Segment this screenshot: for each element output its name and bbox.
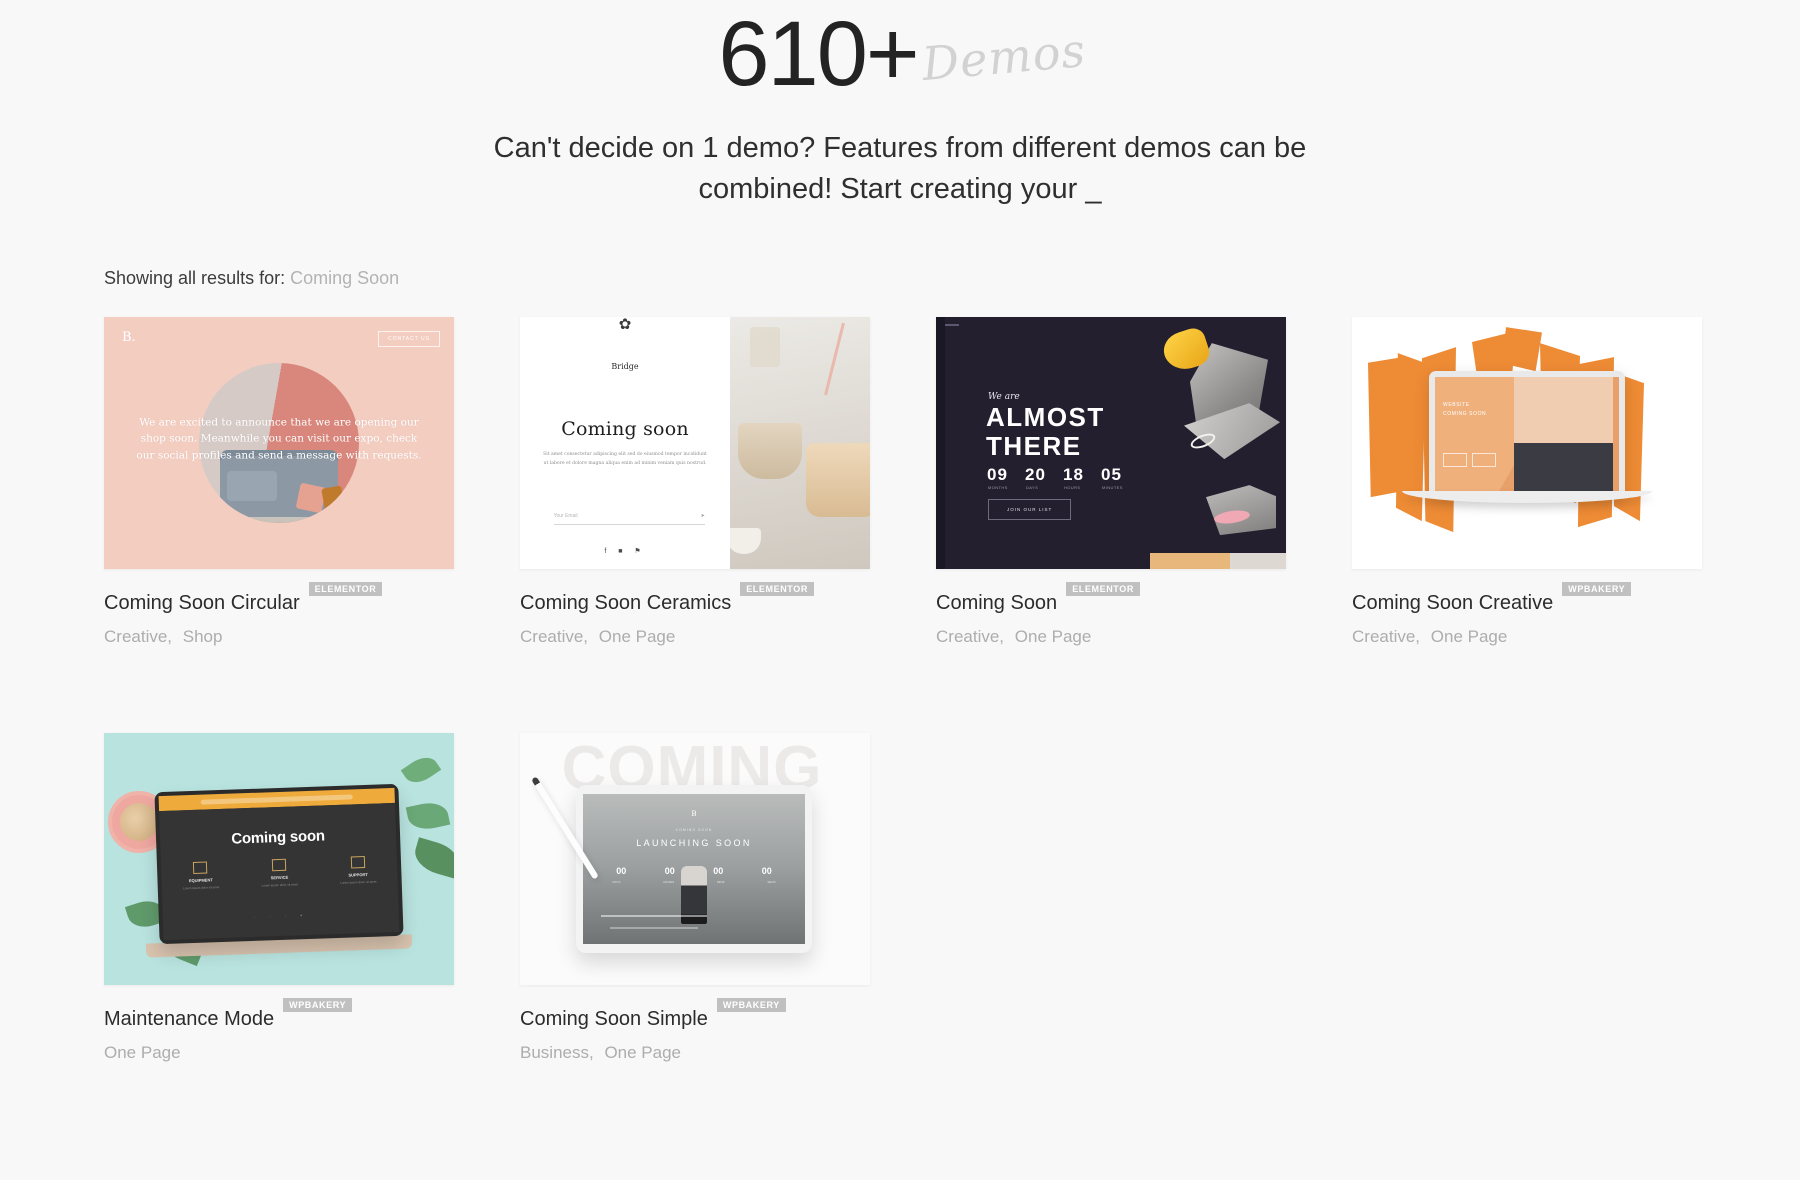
carousel-dots: · · · ▪ xyxy=(163,910,399,924)
demo-thumbnail-maintenance-mode[interactable]: Coming soon EQUIPMENT Lorem ipsum dolor … xyxy=(104,733,454,985)
builder-badge: ELEMENTOR xyxy=(1066,582,1140,596)
card-heading-row: Coming Soon ELEMENTOR xyxy=(936,593,1286,613)
thumb-eyebrow: We are xyxy=(988,392,1020,402)
thumb-social-icons: f ■ ⚑ xyxy=(520,547,730,555)
card-title[interactable]: Maintenance Mode xyxy=(104,1009,274,1029)
card-heading-row: Coming Soon Circular ELEMENTOR xyxy=(104,593,454,613)
menu-icon xyxy=(945,324,959,326)
screen-text: WEBSITE COMING SOON xyxy=(1443,401,1486,418)
desk-line xyxy=(601,915,708,917)
builder-badge: ELEMENTOR xyxy=(740,582,814,596)
jar-shape xyxy=(750,327,780,367)
laptop-mockup: WEBSITE COMING SOON xyxy=(1429,371,1625,497)
demos-script-word: Demos xyxy=(920,27,1087,88)
card-title[interactable]: Coming Soon xyxy=(936,593,1057,613)
countdown-label: MINUTES xyxy=(1102,485,1140,490)
card-tag[interactable]: One Page xyxy=(1015,627,1092,646)
card-heading-row: Maintenance Mode WPBAKERY xyxy=(104,1009,454,1029)
countdown-label: MINS xyxy=(717,880,725,884)
demo-thumbnail-coming-soon-creative[interactable]: WEBSITE COMING SOON xyxy=(1352,317,1702,569)
thumb-email-placeholder: Your Email xyxy=(554,513,578,519)
card-tag[interactable]: One Page xyxy=(604,1043,681,1062)
countdown-label: DAYS xyxy=(1026,485,1064,490)
countdown-label: HOURS xyxy=(1064,485,1102,490)
paint-stroke xyxy=(1502,327,1542,371)
card-tags: Business, One Page xyxy=(520,1043,870,1063)
screen-brand: B xyxy=(583,810,805,818)
card-heading-row: Coming Soon Simple WPBAKERY xyxy=(520,1009,870,1029)
screen-column-sub: Lorem ipsum dolor sit amet xyxy=(172,885,230,892)
card-tag[interactable]: Creative, xyxy=(520,627,588,646)
thumb-logo: B. xyxy=(122,330,136,345)
thumb-countdown-labels: MONTHSDAYSHOURSMINUTES xyxy=(988,485,1140,490)
countdown-value: 20 xyxy=(1025,465,1063,485)
screen-countdown-labels: DAYS HOURS MINS SECS xyxy=(583,880,805,884)
screen-column: SUPPORT Lorem ipsum dolor sit amet xyxy=(328,855,387,886)
demo-thumbnail-coming-soon-ceramics[interactable]: ✿ Bridge Coming soon Sit amet consectetu… xyxy=(520,317,870,569)
builder-badge: ELEMENTOR xyxy=(309,582,383,596)
thumb-cta-button: JOIN OUR LIST xyxy=(988,499,1071,520)
bowl-shape-a xyxy=(738,423,802,479)
straw-shape xyxy=(824,323,845,396)
demo-card[interactable]: Coming soon EQUIPMENT Lorem ipsum dolor … xyxy=(104,733,454,1063)
hero-subtitle-text: Can't decide on 1 demo? Features from di… xyxy=(494,132,1307,205)
thumb-heading: Coming soon xyxy=(520,418,730,440)
bowl-shape-c xyxy=(730,528,761,554)
cushion-shape-2 xyxy=(321,486,345,511)
laptop-mockup: Coming soon EQUIPMENT Lorem ipsum dolor … xyxy=(154,784,403,944)
desk-line-2 xyxy=(610,927,699,929)
demo-search-results-page: 610+Demos Can't decide on 1 demo? Featur… xyxy=(0,0,1800,1180)
thumb-email-input: ➤ Your Email xyxy=(554,513,705,525)
laptop-screen: WEBSITE COMING SOON xyxy=(1435,377,1619,491)
screen-column-sub: Lorem ipsum dolor sit amet xyxy=(329,879,387,886)
tablet-mockup: B COMING SOON LAUNCHING SOON 00 00 00 00… xyxy=(576,785,812,953)
builder-badge: WPBAKERY xyxy=(717,998,786,1012)
screen-column-label: SERVICE xyxy=(250,874,308,881)
screen-eyebrow: COMING SOON xyxy=(583,828,805,832)
results-label: Showing all results for: xyxy=(104,268,285,288)
countdown-value: 05 xyxy=(1101,465,1139,485)
builder-badge: WPBAKERY xyxy=(283,998,352,1012)
screen-column-label: EQUIPMENT xyxy=(172,877,230,884)
countdown-value: 00 xyxy=(616,866,626,876)
thumb-brand: Bridge xyxy=(520,362,730,371)
card-tag[interactable]: One Page xyxy=(1431,627,1508,646)
screen-column-label: SUPPORT xyxy=(329,871,387,878)
screen-title: Coming soon xyxy=(160,825,396,850)
ceramics-photo xyxy=(730,317,870,569)
cushion-shape xyxy=(295,483,326,514)
demo-thumbnail-coming-soon[interactable]: We are ALMOST THERE 09201805 MONTHSDAYSH… xyxy=(936,317,1286,569)
demo-grid: B. CONTACT US We are excited to announce… xyxy=(104,317,1704,1063)
footer-bar xyxy=(1150,553,1286,569)
countdown-label: HOURS xyxy=(663,880,674,884)
screen-box xyxy=(1472,453,1496,467)
hero-section: 610+Demos Can't decide on 1 demo? Featur… xyxy=(0,0,1800,210)
countdown-value: 09 xyxy=(987,465,1025,485)
card-tag[interactable]: One Page xyxy=(104,1043,181,1062)
screen-text-line1: WEBSITE xyxy=(1443,401,1486,410)
screen-text-line2: COMING SOON xyxy=(1443,410,1486,419)
screen-box xyxy=(1443,453,1467,467)
demo-card[interactable]: COMING SOON B COMING SOON LAUNCHING SOON… xyxy=(520,733,870,1063)
ceramics-panel: ✿ Bridge Coming soon Sit amet consectetu… xyxy=(520,317,730,569)
card-tags: Creative, One Page xyxy=(520,627,870,647)
card-tags: One Page xyxy=(104,1043,454,1063)
screen-columns: EQUIPMENT Lorem ipsum dolor sit amet SER… xyxy=(161,855,398,892)
card-title[interactable]: Coming Soon Simple xyxy=(520,1009,708,1029)
demo-thumbnail-coming-soon-circular[interactable]: B. CONTACT US We are excited to announce… xyxy=(104,317,454,569)
card-tags: Creative, Shop xyxy=(104,627,454,647)
card-tag[interactable]: Shop xyxy=(183,627,223,646)
builder-badge: WPBAKERY xyxy=(1562,582,1631,596)
screen-headline: LAUNCHING SOON xyxy=(583,838,805,848)
bowl-shape-b xyxy=(806,443,870,517)
card-tag[interactable]: One Page xyxy=(599,627,676,646)
card-heading-row: Coming Soon Creative WPBAKERY xyxy=(1352,593,1702,613)
demo-card[interactable]: ✿ Bridge Coming soon Sit amet consectetu… xyxy=(520,317,870,647)
send-arrow-icon: ➤ xyxy=(701,513,705,519)
card-tag[interactable]: Creative, xyxy=(1352,627,1420,646)
countdown-value: 00 xyxy=(713,866,723,876)
thumb-headline-line2: THERE xyxy=(986,432,1105,461)
screen-column: SERVICE Lorem ipsum dolor sit amet xyxy=(250,858,309,889)
card-tags: Creative, One Page xyxy=(1352,627,1702,647)
thumb-contact-button: CONTACT US xyxy=(378,331,440,347)
monitor-icon xyxy=(193,862,207,874)
countdown-label: DAYS xyxy=(612,880,620,884)
leaf-shape xyxy=(411,837,454,879)
card-title[interactable]: Coming Soon Ceramics xyxy=(520,593,731,613)
demo-thumbnail-coming-soon-simple[interactable]: COMING SOON B COMING SOON LAUNCHING SOON… xyxy=(520,733,870,985)
countdown-label: SECS xyxy=(767,880,775,884)
countdown-label: MONTHS xyxy=(988,485,1026,490)
card-tag[interactable]: Business, xyxy=(520,1043,594,1062)
countdown-value: 18 xyxy=(1063,465,1101,485)
screen-column: EQUIPMENT Lorem ipsum dolor sit amet xyxy=(171,861,230,892)
hero-subtitle: Can't decide on 1 demo? Features from di… xyxy=(465,128,1335,210)
typing-caret: _ xyxy=(1085,169,1101,210)
card-tags: Creative, One Page xyxy=(936,627,1286,647)
thumb-headline: ALMOST THERE xyxy=(986,403,1105,461)
demo-card[interactable]: B. CONTACT US We are excited to announce… xyxy=(104,317,454,647)
demo-card[interactable]: We are ALMOST THERE 09201805 MONTHSDAYSH… xyxy=(936,317,1286,647)
warning-icon xyxy=(272,859,286,871)
demo-card[interactable]: WEBSITE COMING SOON Coming Soon Creative… xyxy=(1352,317,1702,647)
thumb-paragraph: Sit amet consectetur adipiscing elit sed… xyxy=(542,450,708,468)
card-tag[interactable]: Creative, xyxy=(104,627,172,646)
card-heading-row: Coming Soon Ceramics ELEMENTOR xyxy=(520,593,870,613)
tablet-screen: B COMING SOON LAUNCHING SOON 00 00 00 00… xyxy=(583,794,805,944)
page-title: 610+Demos xyxy=(718,8,1081,102)
screen-countdown: 00 00 00 00 xyxy=(583,866,805,876)
thumb-overlay-text: We are excited to announce that we are o… xyxy=(104,415,454,464)
countdown-value: 00 xyxy=(665,866,675,876)
model-photo xyxy=(1514,377,1613,491)
thumb-countdown: 09201805 xyxy=(987,465,1139,485)
monitor-icon xyxy=(350,856,364,868)
screen-column-sub: Lorem ipsum dolor sit amet xyxy=(251,882,309,889)
leaf-shape xyxy=(406,799,451,833)
sidebar-strip xyxy=(936,317,945,569)
results-query: Coming Soon xyxy=(290,268,399,288)
screen-boxes xyxy=(1443,453,1496,467)
laptop-screen: Coming soon EQUIPMENT Lorem ipsum dolor … xyxy=(159,803,399,940)
countdown-value: 00 xyxy=(762,866,772,876)
thumb-headline-line1: ALMOST xyxy=(986,403,1105,432)
flower-icon: ✿ xyxy=(520,317,730,332)
card-title[interactable]: Coming Soon Circular xyxy=(104,593,300,613)
leaf-shape xyxy=(401,752,441,789)
demo-count: 610+ xyxy=(718,3,917,105)
results-summary: Showing all results for: Coming Soon xyxy=(104,268,1800,289)
card-title[interactable]: Coming Soon Creative xyxy=(1352,593,1553,613)
card-tag[interactable]: Creative, xyxy=(936,627,1004,646)
